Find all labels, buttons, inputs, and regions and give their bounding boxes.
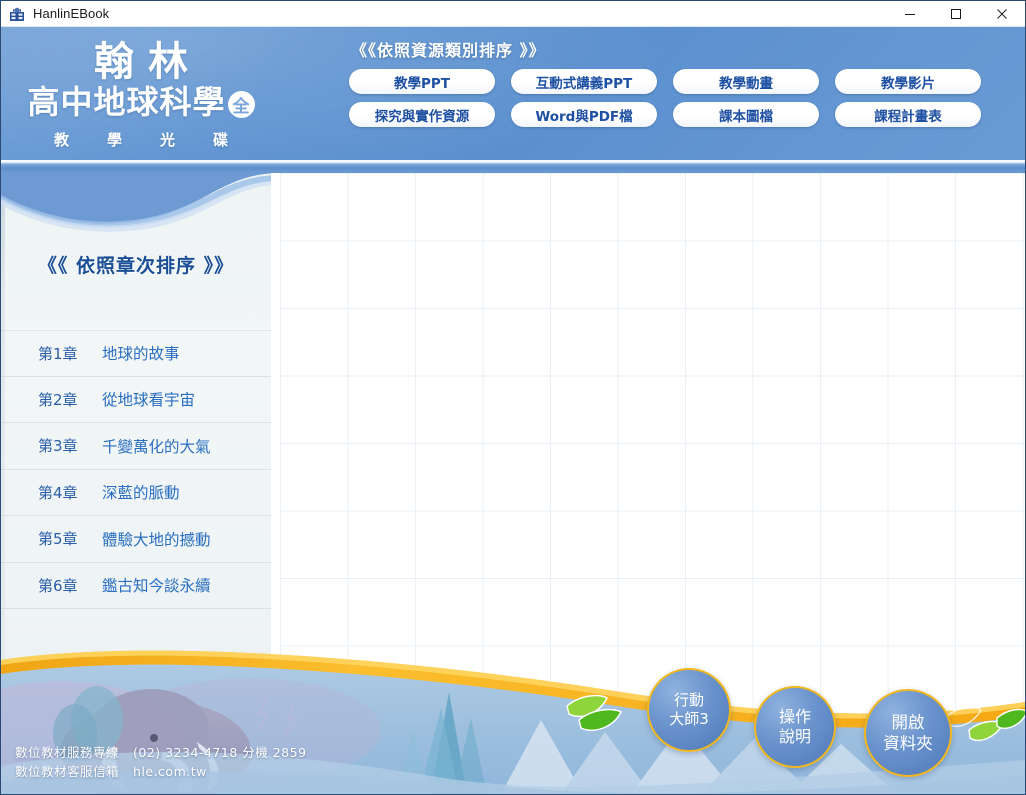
chapter-row-3[interactable]: 第3章 千變萬化的大氣 (1, 423, 271, 470)
action-label-line2: 說明 (779, 727, 811, 747)
window-controls (887, 1, 1025, 27)
window-title: HanlinEBook (33, 6, 109, 21)
resource-category-panel: 《《依照資源類別排序 》》 教學PPT 互動式講義PPT 教學動畫 教學影片 探… (349, 37, 997, 127)
chapter-row-4[interactable]: 第4章 深藍的脈動 (1, 470, 271, 517)
chapter-title: 千變萬化的大氣 (102, 435, 211, 457)
brand-logo: 翰林 高中地球科學 全 教學光碟 (1, 27, 281, 173)
chapter-number: 第5章 (38, 528, 102, 549)
chapter-row-1[interactable]: 第1章 地球的故事 (1, 330, 271, 377)
sidebar-heading: 《《 依照章次排序 》》 (1, 251, 271, 278)
chapter-number: 第3章 (38, 435, 102, 456)
content-left-margin (271, 173, 280, 795)
chapter-title: 深藍的脈動 (102, 481, 180, 503)
action-label-line1: 操作 (779, 707, 811, 727)
chapter-title: 體驗大地的撼動 (102, 528, 211, 550)
footer-email-label: 數位教材客服信箱 (15, 764, 119, 779)
brand-subject-row: 高中地球科學 全 (27, 85, 254, 120)
chapter-number: 第6章 (38, 575, 102, 596)
app-icon (9, 6, 25, 22)
brand-media-type: 教學光碟 (16, 129, 266, 150)
footer-email-line: 數位教材客服信箱 hle.com.tw (15, 762, 345, 781)
action-label-line1: 行動 (674, 691, 704, 710)
minimize-icon[interactable] (887, 1, 933, 27)
action-label-line2: 資料夾 (883, 733, 933, 754)
footer-service-value: (02) 3234-4718 分機 2859 (133, 745, 307, 760)
resource-button-course-plan[interactable]: 課程計畫表 (835, 102, 981, 127)
chapter-row-2[interactable]: 第2章 從地球看宇宙 (1, 377, 271, 424)
resource-button-word-pdf[interactable]: Word與PDF檔 (511, 102, 657, 127)
sidebar-header-curve (1, 173, 271, 235)
application-window: HanlinEBook 翰林 高中地球科學 全 教學光碟 《《依照資源類別排序 … (0, 0, 1026, 795)
resource-panel-heading: 《《依照資源類別排序 》》 (351, 37, 997, 61)
chapter-row-5[interactable]: 第5章 體驗大地的撼動 (1, 516, 271, 563)
close-icon[interactable] (979, 1, 1025, 27)
chapter-number: 第4章 (38, 482, 102, 503)
action-button-mobile-master[interactable]: 行動 大師3 (647, 668, 731, 752)
brand-publisher: 翰林 (80, 41, 202, 83)
resource-button-inquiry-practice[interactable]: 探究與實作資源 (349, 102, 495, 127)
resource-button-teaching-ppt[interactable]: 教學PPT (349, 69, 495, 94)
action-label-line1: 開啟 (892, 712, 925, 733)
chapter-row-6[interactable]: 第6章 鑑古知今談永續 (1, 563, 271, 610)
footer-service-label: 數位教材服務專線 (15, 745, 119, 760)
resource-button-teaching-video[interactable]: 教學影片 (835, 69, 981, 94)
action-button-open-folder[interactable]: 開啟 資料夾 (864, 689, 952, 777)
footer-contact-info: 數位教材服務專線 (02) 3234-4718 分機 2859 數位教材客服信箱… (15, 743, 345, 781)
chapter-number: 第1章 (38, 343, 102, 364)
resource-button-grid: 教學PPT 互動式講義PPT 教學動畫 教學影片 探究與實作資源 Word與PD… (349, 69, 997, 127)
chapter-list: 第1章 地球的故事 第2章 從地球看宇宙 第3章 千變萬化的大氣 第4章 深藍的… (1, 330, 271, 609)
chapter-title: 地球的故事 (102, 342, 180, 364)
action-button-instructions[interactable]: 操作 說明 (754, 686, 836, 768)
brand-badge: 全 (228, 91, 255, 118)
footer-service-line: 數位教材服務專線 (02) 3234-4718 分機 2859 (15, 743, 345, 762)
footer-email-value: hle.com.tw (133, 764, 207, 779)
chapter-title: 從地球看宇宙 (102, 388, 195, 410)
maximize-icon[interactable] (933, 1, 979, 27)
title-bar: HanlinEBook (1, 1, 1025, 27)
resource-button-teaching-animation[interactable]: 教學動畫 (673, 69, 819, 94)
chapter-sidebar: 《《 依照章次排序 》》 第1章 地球的故事 第2章 從地球看宇宙 第3章 千變… (1, 173, 271, 795)
brand-subject: 高中地球科學 (27, 85, 225, 120)
resource-button-interactive-ppt[interactable]: 互動式講義PPT (511, 69, 657, 94)
chapter-title: 鑑古知今談永續 (102, 574, 211, 596)
app-header: 翰林 高中地球科學 全 教學光碟 《《依照資源類別排序 》》 教學PPT 互動式… (1, 27, 1025, 173)
resource-button-textbook-images[interactable]: 課本圖檔 (673, 102, 819, 127)
action-label-line2: 大師3 (669, 710, 709, 729)
chapter-number: 第2章 (38, 389, 102, 410)
header-bottom-strip (1, 160, 1025, 173)
